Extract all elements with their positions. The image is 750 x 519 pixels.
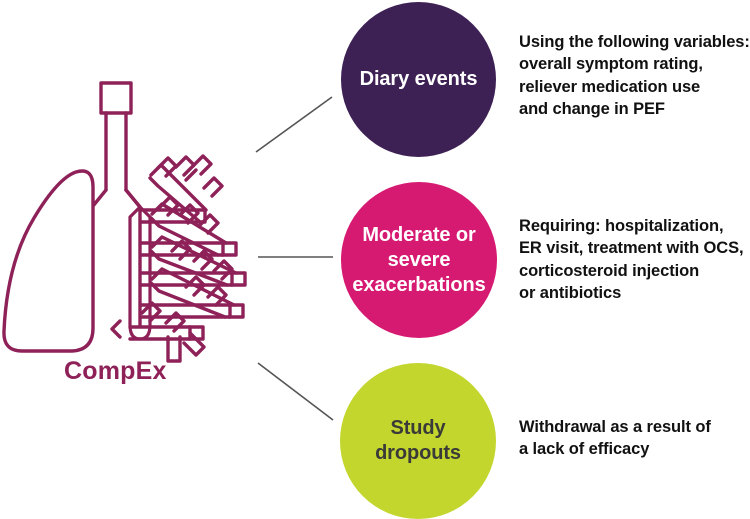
description-study-dropouts: Withdrawal as a result of a lack of effi… (519, 416, 750, 461)
description-exacerbations: Requiring: hospitalization, ER visit, tr… (519, 215, 750, 305)
connector-to-diary-events (256, 97, 332, 152)
node-diary-events-label: Diary events (348, 67, 490, 92)
node-study-dropouts-label: Study dropouts (340, 416, 496, 466)
node-moderate-or-severe-exacerbations[interactable]: Moderate or severe exacerbations (341, 182, 497, 338)
node-exacerbations-label: Moderate or severe exacerbations (340, 223, 497, 298)
branch-5-down-b-icon (184, 333, 204, 355)
lungs-bronchial-tree-graphic (0, 75, 265, 365)
connector-to-study-dropouts (258, 363, 333, 420)
lungs-illustration (0, 75, 265, 365)
branch-1-tip-d-icon (204, 178, 222, 196)
branch-4-b-icon (151, 283, 225, 317)
node-diary-events[interactable]: Diary events (341, 2, 496, 157)
diagram-canvas: CompEx Diary events Using the following … (0, 0, 750, 516)
carina-icon (126, 190, 140, 207)
branch-5-left-tip-icon (112, 321, 120, 337)
branch-1-tip-a-icon (158, 158, 176, 176)
node-study-dropouts[interactable]: Study dropouts (340, 363, 496, 519)
compex-brand-label: CompEx (64, 358, 244, 386)
description-diary-events: Using the following variables: overall s… (519, 31, 750, 121)
left-lung-lobe-icon (4, 171, 106, 351)
trachea-top-icon (101, 83, 131, 113)
